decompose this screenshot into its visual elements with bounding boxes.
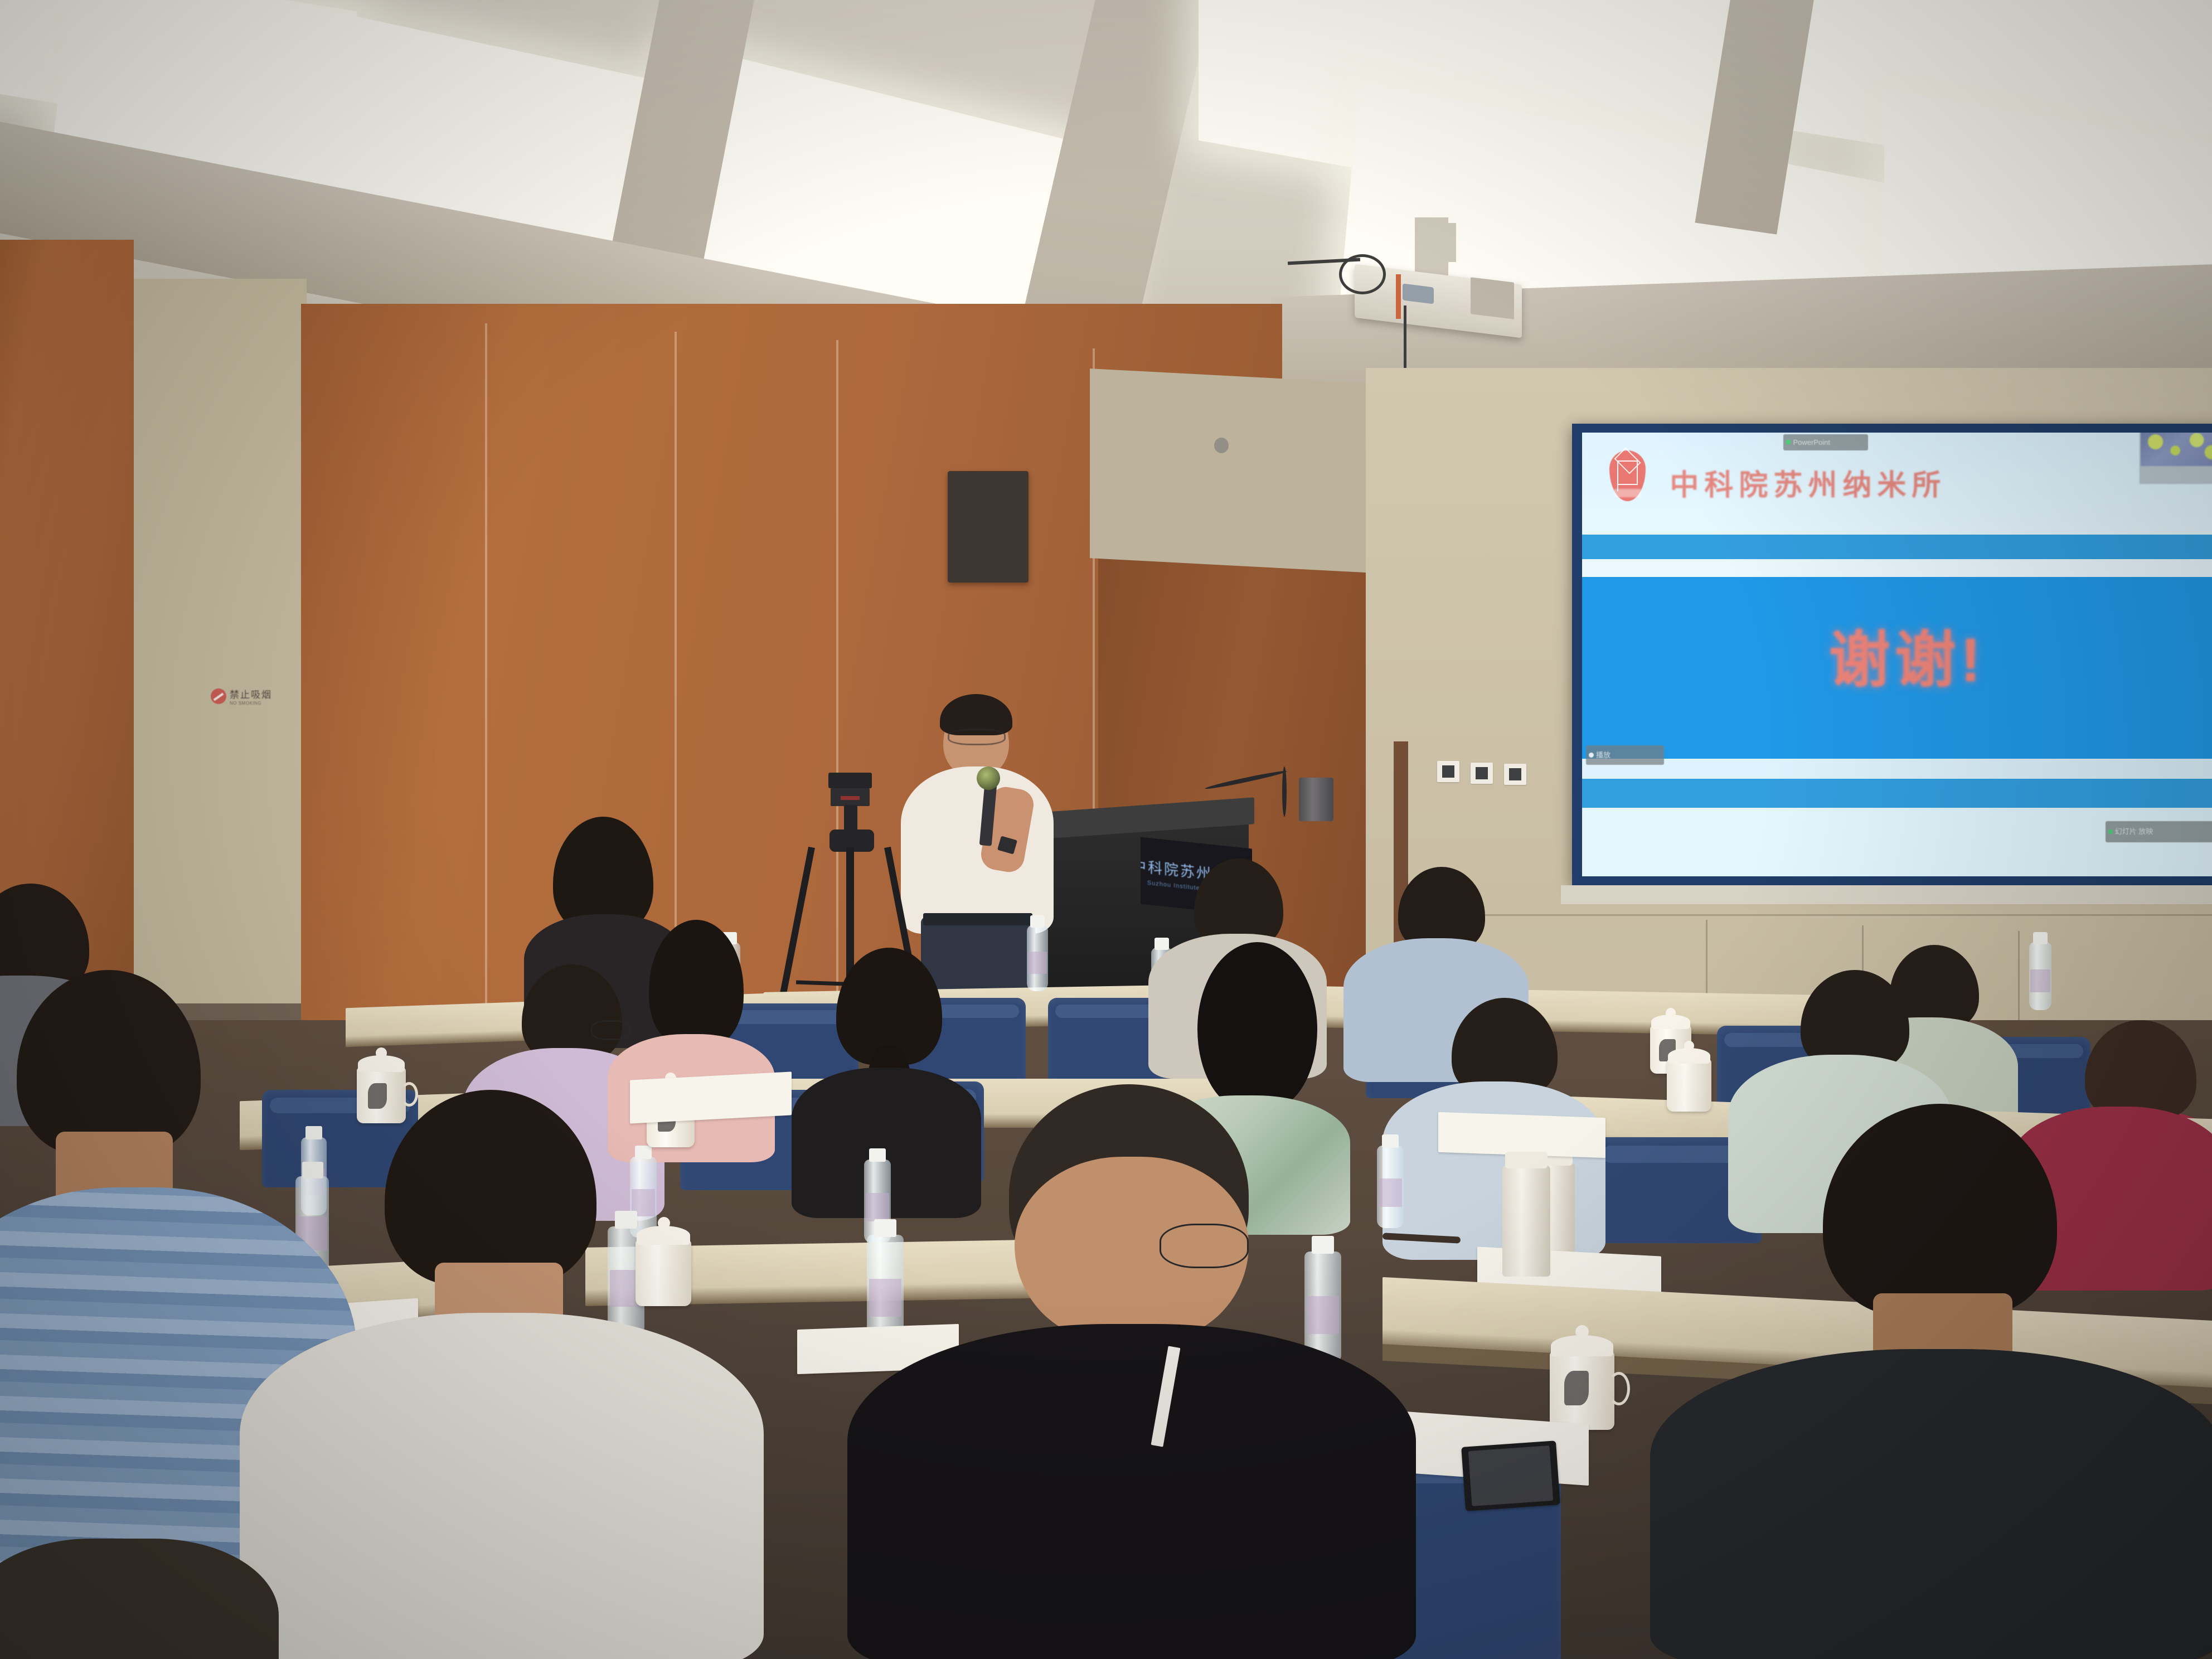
wall-outlet-3[interactable] — [1504, 764, 1526, 785]
slide-accent-band-top — [1582, 535, 2212, 559]
ppt-slideshow-tag[interactable]: 幻灯片 放映 — [2106, 821, 2212, 842]
bottle-cap — [1030, 915, 1045, 928]
slide-accent-band-bottom — [1582, 779, 2212, 808]
attendee-top — [1650, 1349, 2212, 1659]
slide-gap-bottom — [1582, 759, 2212, 779]
presenter-glasses — [948, 729, 1006, 745]
projection-screen[interactable]: 中科院苏州纳米所 谢谢! PowerPoint 播放 — [1572, 424, 2212, 886]
tripod-lock-marker — [841, 796, 860, 800]
meeting-room-scene: 禁止吸烟 NO SMOKING 中科院苏州纳米所 谢谢! — [0, 0, 2212, 1659]
smartphone-front[interactable] — [1461, 1440, 1560, 1511]
wall-left-beige-column — [123, 279, 307, 1003]
attendee-front-black-polo — [847, 1084, 1416, 1659]
tea-mug-motif — [1564, 1371, 1589, 1405]
ppt-status-tag-top-label: PowerPoint — [1793, 439, 1830, 446]
slide-title: 中科院苏州纳米所 — [1670, 462, 1946, 503]
vacuum-flask-front — [1502, 1165, 1550, 1277]
slide-thanks-text: 谢谢! — [1582, 610, 2212, 699]
projector-vent — [1471, 277, 1514, 319]
paper-sheet-mid-2 — [1438, 1112, 1605, 1158]
logo-subtext — [1614, 489, 1642, 497]
tea-mug-front-2 — [1550, 1352, 1614, 1430]
slide-surface: 中科院苏州纳米所 谢谢! PowerPoint 播放 — [1582, 433, 2212, 876]
slide-thumbnail[interactable] — [2140, 433, 2212, 484]
slide-thumbnail-image — [2141, 433, 2212, 466]
attendee-hair — [1823, 1104, 2057, 1316]
tea-mug-knob — [1666, 1008, 1676, 1018]
water-bottle-far-2 — [1027, 925, 1048, 991]
wall-right-horizontal-seam — [1416, 914, 2212, 916]
tea-mug-knob — [376, 1047, 387, 1059]
attendee-hair — [649, 920, 744, 1048]
tea-mug-handle — [1608, 1372, 1630, 1405]
slide-gap-top — [1582, 559, 2212, 577]
presenter-belt — [923, 913, 1032, 925]
slide-thumbnail-caption-bar — [2141, 466, 2212, 482]
no-smoking-label-cn: 禁止吸烟 — [230, 687, 272, 701]
attendee-hair — [522, 964, 622, 1062]
play-dot-icon — [1589, 753, 1594, 758]
institute-logo — [1609, 450, 1646, 501]
bottle-label — [2030, 969, 2050, 992]
projector-power-cable — [1396, 274, 1401, 319]
bottle-label — [1028, 952, 1046, 974]
tea-mug-knob — [1684, 1041, 1694, 1051]
status-dot-icon — [1786, 440, 1791, 444]
attendee-top — [240, 1313, 764, 1659]
tripod-head — [828, 773, 872, 788]
ppt-play-tag[interactable]: 播放 — [1586, 745, 1664, 765]
smartphone-screen[interactable] — [1468, 1445, 1554, 1506]
no-smoking-sign: 禁止吸烟 NO SMOKING — [211, 687, 272, 706]
smoke-detector — [1214, 438, 1229, 453]
wood-panel-seam-1 — [485, 323, 487, 1009]
no-smoking-label-en: NO SMOKING — [230, 701, 272, 706]
projector-mount-plate — [1436, 223, 1456, 262]
attendee-top — [847, 1324, 1416, 1659]
ceiling-projector — [1355, 240, 1539, 362]
water-bottle-far-5 — [2029, 942, 2051, 1010]
wall-speaker — [948, 471, 1029, 583]
microphone-head-icon — [977, 767, 1000, 790]
wall-outlet-1[interactable] — [1437, 761, 1459, 782]
slideshow-dot-icon — [2108, 829, 2113, 834]
attendee-hair — [385, 1090, 596, 1285]
flask-cap — [1505, 1152, 1548, 1168]
tea-mug-knob — [1575, 1325, 1589, 1338]
attendee-hair — [17, 970, 201, 1154]
ppt-slideshow-tag-label: 幻灯片 放映 — [2115, 828, 2153, 835]
ppt-play-tag-label: 播放 — [1596, 751, 1611, 759]
podium-microphone-stem — [1282, 767, 1287, 817]
wall-outlet-2[interactable] — [1471, 763, 1493, 784]
bottle-cap — [2033, 932, 2048, 944]
no-smoking-icon — [211, 688, 226, 704]
screen-ledge — [1561, 885, 2212, 904]
podium-water-cup — [1299, 778, 1333, 821]
ppt-status-tag-top[interactable]: PowerPoint — [1783, 434, 1868, 450]
attendee-glasses — [1160, 1224, 1249, 1268]
attendee-front-right-dark-polo — [1661, 1104, 2212, 1659]
attendee-front-white-polo — [240, 1090, 764, 1659]
